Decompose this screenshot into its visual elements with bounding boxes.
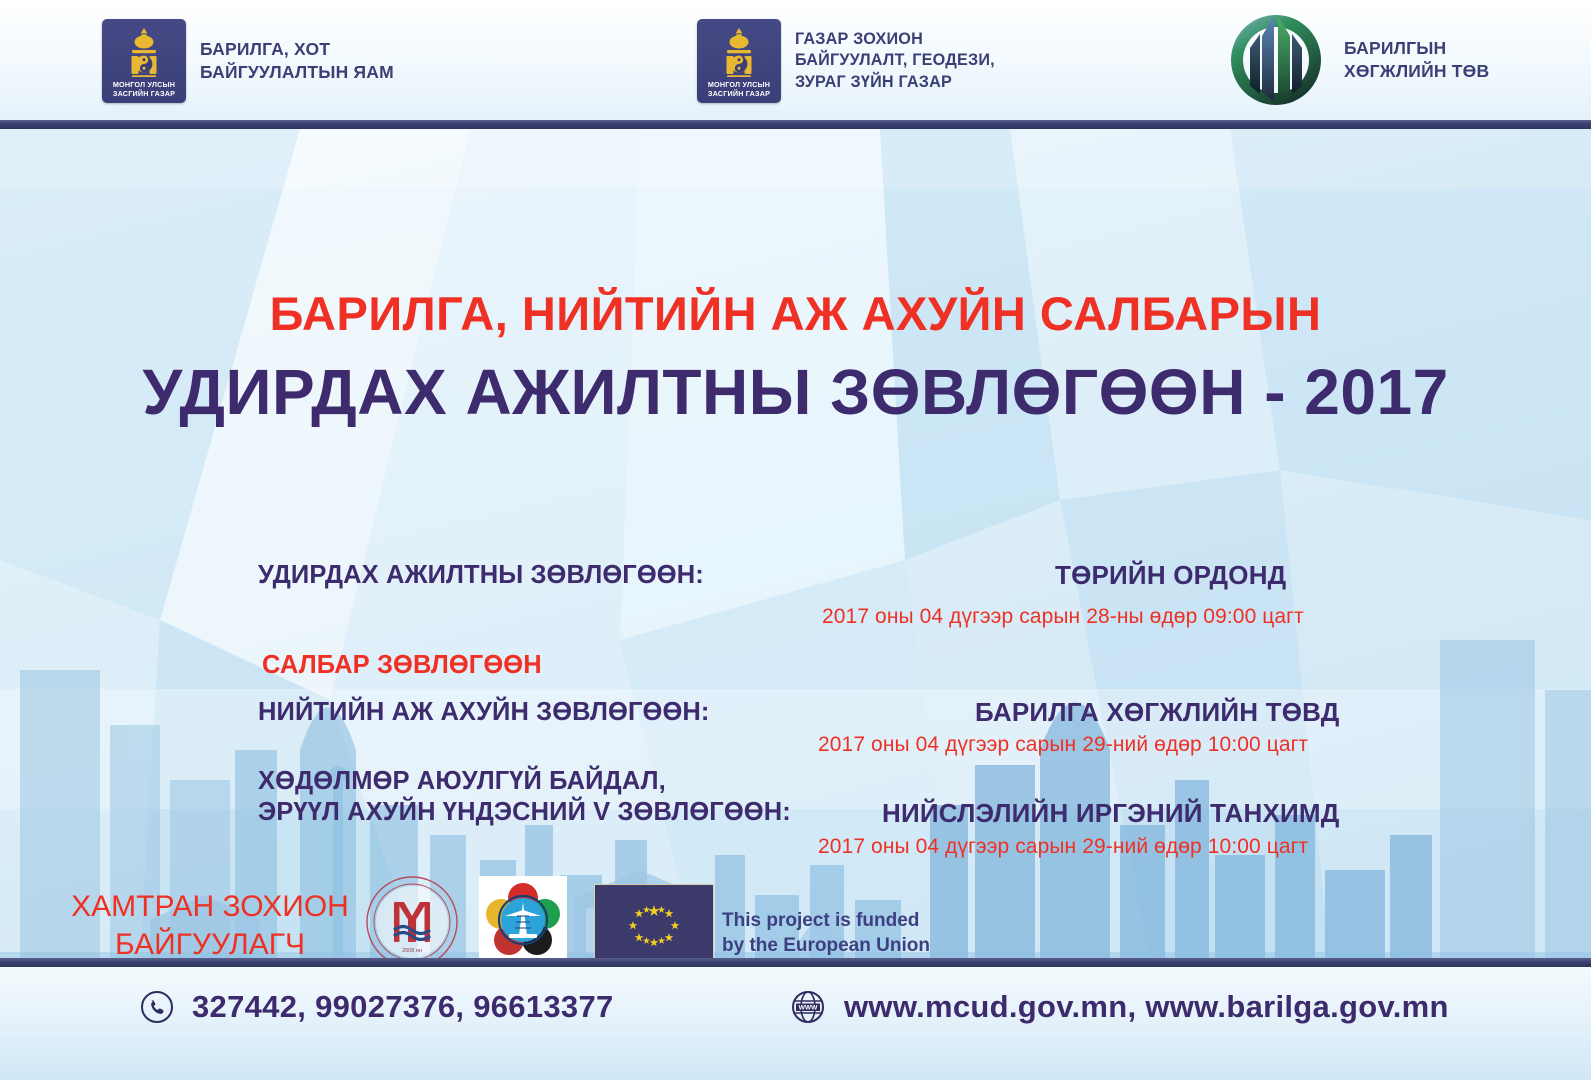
- svg-text:2008 он: 2008 он: [402, 948, 422, 954]
- footer-phone-numbers[interactable]: 327442, 99027376, 96613377: [192, 989, 614, 1025]
- schedule-datetime: 2017 оны 04 дүгээр сарын 28-ны өдөр 09:0…: [822, 605, 1304, 629]
- emblem-caption: МОНГОЛ УЛСЫН ЗАСГИЙН ГАЗАР: [102, 80, 186, 98]
- mongolian-utilities-association-logo-icon: 2008 он: [364, 874, 460, 970]
- poster-title-line2: УДИРДАХ АЖИЛТНЫ ЗӨВЛӨГӨӨН - 2017: [0, 355, 1591, 429]
- footer-divider: [0, 958, 1591, 967]
- poster-title-line1: БАРИЛГА, НИЙТИЙН АЖ АХУЙН САЛБАРЫН: [0, 286, 1591, 341]
- soyombo-glyph: [102, 25, 186, 77]
- eu-funding-text: This project is funded by the European U…: [722, 908, 930, 958]
- schedule-venue: НИЙСЛЭЛИЙН ИРГЭНИЙ ТАНХИМД: [882, 798, 1340, 829]
- schedule-datetime: 2017 оны 04 дүгээр сарын 29-ний өдөр 10:…: [818, 835, 1308, 859]
- wash-band: [0, 129, 1591, 189]
- schedule-label: САЛБАР ЗӨВЛӨГӨӨН: [262, 650, 542, 681]
- footer-bar: 327442, 99027376, 96613377 WWW www.mcud.…: [0, 967, 1591, 1080]
- phone-icon: [140, 990, 174, 1024]
- schedule-label: УДИРДАХ АЖИЛТНЫ ЗӨВЛӨГӨӨН:: [258, 560, 704, 591]
- european-union-flag-icon: [594, 884, 714, 965]
- schedule-venue: ТӨРИЙН ОРДОНД: [1055, 560, 1286, 591]
- header-org-1: МОНГОЛ УЛСЫН ЗАСГИЙН ГАЗАР БАРИЛГА, ХОТ …: [102, 19, 394, 103]
- soyombo-emblem-icon: МОНГОЛ УЛСЫН ЗАСГИЙН ГАЗАР: [697, 19, 781, 103]
- footer-phone-group: 327442, 99027376, 96613377: [140, 989, 614, 1025]
- soyombo-glyph: [697, 25, 781, 77]
- svg-text:WWW: WWW: [799, 1004, 818, 1011]
- header-org-name: ГАЗАР ЗОХИОН БАЙГУУЛАЛТ, ГЕОДЕЗИ, ЗУРАГ …: [795, 29, 995, 94]
- emblem-caption: МОНГОЛ УЛСЫН ЗАСГИЙН ГАЗАР: [697, 80, 781, 98]
- bdc-circular-logo-icon: [1222, 6, 1330, 114]
- footer-web-group: WWW www.mcud.gov.mn, www.barilga.gov.mn: [790, 989, 1449, 1025]
- header-org-3: БАРИЛГЫН ХӨГЖЛИЙН ТӨВ: [1222, 6, 1489, 114]
- header-bar: МОНГОЛ УЛСЫН ЗАСГИЙН ГАЗАР БАРИЛГА, ХОТ …: [0, 0, 1591, 122]
- schedule-datetime: 2017 оны 04 дүгээр сарын 29-ний өдөр 10:…: [818, 733, 1308, 757]
- footer-websites[interactable]: www.mcud.gov.mn, www.barilga.gov.mn: [844, 989, 1449, 1025]
- header-divider: [0, 120, 1591, 129]
- conference-poster: МОНГОЛ УЛСЫН ЗАСГИЙН ГАЗАР БАРИЛГА, ХОТ …: [0, 0, 1591, 1080]
- www-globe-icon: WWW: [790, 989, 826, 1025]
- header-org-name: БАРИЛГЫН ХӨГЖЛИЙН ТӨВ: [1344, 37, 1489, 83]
- coorganiser-label: ХАМТРАН ЗОХИОН БАЙГУУЛАГЧ: [60, 888, 360, 964]
- poster-body: [0, 129, 1591, 960]
- header-org-2: МОНГОЛ УЛСЫН ЗАСГИЙН ГАЗАР ГАЗАР ЗОХИОН …: [697, 19, 995, 103]
- mongolian-builders-association-logo-icon: [479, 876, 567, 964]
- schedule-label: НИЙТИЙН АЖ АХУЙН ЗӨВЛӨГӨӨН:: [258, 697, 710, 728]
- header-org-name: БАРИЛГА, ХОТ БАЙГУУЛАЛТЫН ЯАМ: [200, 38, 394, 84]
- schedule-label: ХӨДӨЛМӨР АЮУЛГҮЙ БАЙДАЛ, ЭРҮҮЛ АХУЙН ҮНД…: [258, 766, 791, 828]
- soyombo-emblem-icon: МОНГОЛ УЛСЫН ЗАСГИЙН ГАЗАР: [102, 19, 186, 103]
- schedule-venue: БАРИЛГА ХӨГЖЛИЙН ТӨВД: [975, 697, 1340, 728]
